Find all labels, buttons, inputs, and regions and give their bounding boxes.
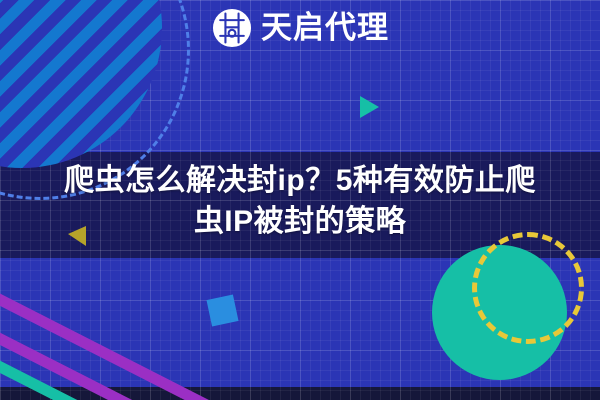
teal-triangle-decoration [360,96,379,118]
blue-square-decoration [206,294,238,326]
brand-logo: 天启代理 [0,7,600,49]
circular-monogram-icon [211,7,253,49]
page-title: 爬虫怎么解决封ip？5种有效防止爬 虫IP被封的策略 [18,160,582,242]
page-title-line-1: 爬虫怎么解决封ip？5种有效防止爬 [18,160,582,201]
brand-name: 天启代理 [261,7,389,49]
dashed-circle-yellow-decoration [472,232,584,344]
poster-canvas: 天启代理 爬虫怎么解决封ip？5种有效防止爬 虫IP被封的策略 [0,0,600,400]
page-title-line-2: 虫IP被封的策略 [18,201,582,242]
